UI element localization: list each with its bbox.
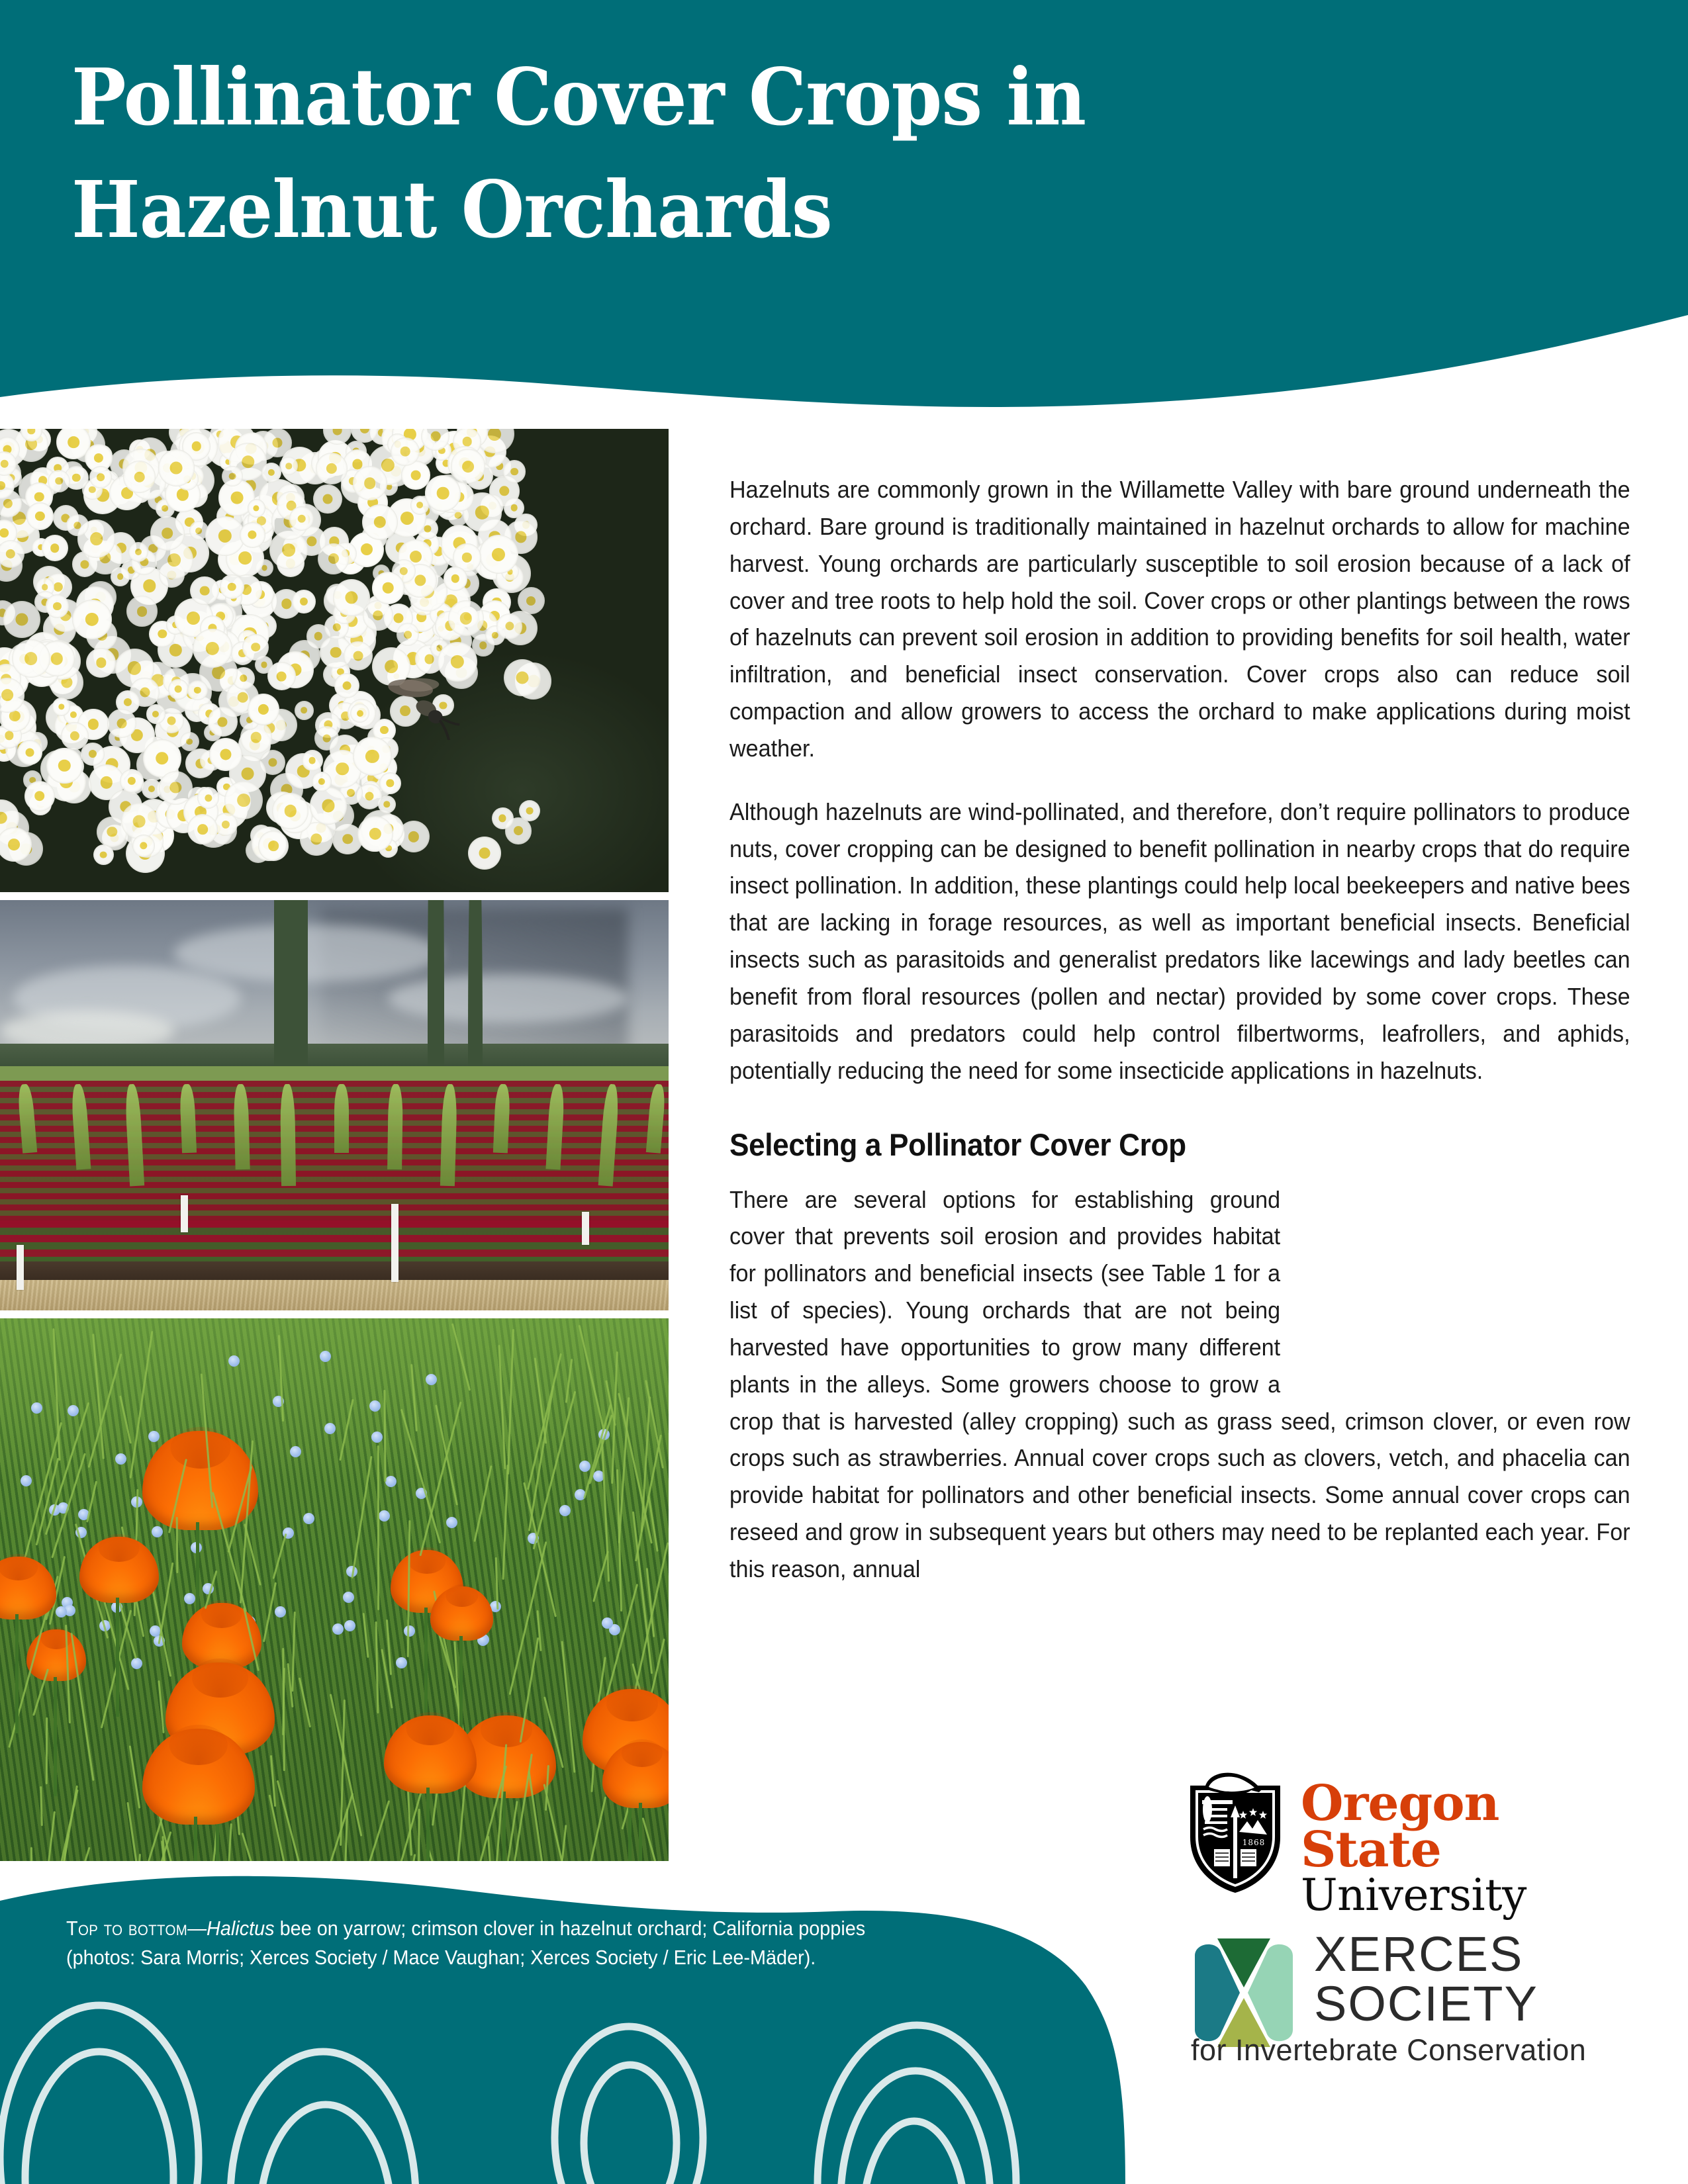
yarrow-floret <box>205 516 245 556</box>
title-line-1: Pollinator Cover Crops in <box>71 51 1086 143</box>
yarrow-floret <box>72 600 112 639</box>
poster-page: Pollinator Cover Crops in Hazelnut Orcha… <box>0 0 1688 2184</box>
yarrow-floret <box>168 679 189 700</box>
yarrow-floret <box>46 594 70 618</box>
page-title: Pollinator Cover Crops in Hazelnut Orcha… <box>71 58 1364 249</box>
header-banner: Pollinator Cover Crops in Hazelnut Orcha… <box>0 0 1688 424</box>
yarrow-floret <box>107 709 136 738</box>
yarrow-floret <box>295 701 314 720</box>
blue-flax-flower <box>379 1510 390 1522</box>
yarrow-floret <box>93 844 115 866</box>
yarrow-floret <box>132 835 155 857</box>
blue-flax-flower <box>131 1658 142 1669</box>
yarrow-floret <box>444 567 468 591</box>
yarrow-floret <box>180 732 199 751</box>
grass-blade <box>377 1445 379 1610</box>
california-poppy-flower <box>384 1715 477 1794</box>
blue-flax-flower <box>320 1351 331 1362</box>
yarrow-floret <box>313 484 342 514</box>
yarrow-floret <box>302 750 323 771</box>
grass-blade <box>400 1408 441 1543</box>
grass-blade <box>86 1481 97 1523</box>
grass-blade <box>299 1677 311 1727</box>
grass-blade <box>291 1612 296 1692</box>
grass-blade <box>383 1389 386 1481</box>
blue-flax-flower <box>385 1476 397 1487</box>
blue-flax-flower <box>602 1617 613 1629</box>
hazelnut-tree-row <box>334 1084 349 1153</box>
hazelnut-tree-row <box>124 1083 144 1186</box>
caption-lead: Top to bottom <box>66 1917 187 1940</box>
blue-flax-flower <box>396 1657 407 1668</box>
grass-blade <box>362 1613 369 1658</box>
yarrow-floret <box>353 737 392 776</box>
yarrow-floret <box>261 463 281 482</box>
grass-blade <box>158 1563 173 1645</box>
blue-flax-flower <box>21 1475 32 1486</box>
blue-flax-flower <box>275 1606 286 1617</box>
yarrow-floret <box>316 453 348 484</box>
yarrow-floret <box>448 600 484 636</box>
paragraph-1: Hazelnuts are commonly grown in the Will… <box>729 471 1630 767</box>
yarrow-floret <box>224 781 263 819</box>
grass-blade <box>40 1786 43 1826</box>
photo-crimson-clover-in-hazelnut-orchard <box>0 900 669 1310</box>
yarrow-floret <box>391 437 419 466</box>
grass-blade <box>119 1395 132 1443</box>
yarrow-floret <box>123 461 156 493</box>
grass-blade <box>381 1649 393 1708</box>
yarrow-floret <box>193 629 232 668</box>
osu-wordmark-line-2: University <box>1301 1874 1609 1917</box>
yarrow-floret <box>263 429 292 457</box>
grass-blade <box>583 1404 612 1499</box>
grass-blade <box>561 1641 575 1772</box>
hazelnut-tree-row <box>493 1083 510 1153</box>
yarrow-floret <box>24 781 55 811</box>
blue-flax-flower <box>446 1517 457 1528</box>
blue-flax-flower <box>371 1432 383 1443</box>
yarrow-floret <box>248 499 265 517</box>
yarrow-floret <box>48 470 70 492</box>
blue-flax-flower <box>303 1513 314 1524</box>
yarrow-floret <box>479 535 518 574</box>
photo-column <box>0 429 669 1885</box>
yarrow-floret <box>363 600 393 630</box>
xerces-society-logo: XERCES SOCIETY for Invertebrate Conserva… <box>1188 1929 1618 2095</box>
blue-flax-flower <box>115 1453 126 1465</box>
hazelnut-tree-row <box>233 1083 250 1169</box>
blue-flax-flower <box>290 1446 301 1457</box>
yarrow-floret <box>187 680 207 700</box>
hazelnut-tree-row <box>645 1083 665 1154</box>
yarrow-floret <box>344 641 373 670</box>
blue-flax-flower <box>404 1625 415 1637</box>
hazelnut-tree-row <box>598 1083 620 1186</box>
yarrow-floret <box>190 576 218 605</box>
yarrow-floret <box>26 502 54 530</box>
yarrow-floret <box>312 772 332 792</box>
yarrow-floret <box>318 543 349 574</box>
yarrow-floret <box>222 466 243 487</box>
yarrow-floret <box>503 460 526 483</box>
caption-italic-genus: Halictus <box>207 1917 275 1940</box>
blue-flax-flower <box>324 1423 336 1434</box>
blue-flax-flower <box>559 1505 571 1516</box>
grass-blade <box>277 1335 283 1422</box>
yarrow-floret <box>121 803 158 839</box>
grass-blade <box>273 1533 287 1579</box>
yarrow-floret <box>496 614 522 639</box>
hazelnut-tree-row <box>280 1084 296 1186</box>
bee-icon <box>371 667 470 740</box>
yarrow-floret <box>258 831 289 861</box>
section-heading-selecting-a-pollinator-cover-crop: Selecting a Pollinator Cover Crop <box>729 1126 1575 1163</box>
grass-blade <box>92 1334 105 1459</box>
grass-blade <box>410 1364 418 1432</box>
yarrow-floret <box>3 601 40 638</box>
hazelnut-tree-row <box>387 1084 403 1169</box>
photo-credit-caption: Top to bottom—Halictus bee on yarrow; cr… <box>66 1914 922 1972</box>
osu-wordmark-line-1: Oregon State <box>1301 1780 1609 1874</box>
blue-flax-flower <box>369 1400 381 1412</box>
caption-dash: — <box>187 1917 207 1940</box>
grass-blade <box>502 1465 508 1580</box>
yarrow-floret <box>126 596 158 627</box>
grass-blade <box>648 1495 659 1551</box>
blue-flax-flower <box>344 1620 355 1631</box>
hazelnut-tree-row <box>71 1083 91 1169</box>
blue-flax-flower <box>56 1606 67 1617</box>
california-poppy-flower <box>0 1557 56 1619</box>
hazelnut-tree-row <box>179 1083 197 1153</box>
yarrow-floret <box>504 659 541 696</box>
paragraph-3: There are several options for establishi… <box>729 1181 1630 1588</box>
yarrow-floret <box>492 807 514 829</box>
paragraph-2: Although hazelnuts are wind-pollinated, … <box>729 794 1630 1089</box>
yarrow-floret <box>209 738 242 771</box>
xerces-wordmark-line-1: XERCES <box>1314 1929 1586 1979</box>
grass-blade <box>507 1329 514 1475</box>
blue-flax-flower <box>579 1461 590 1472</box>
grass-blade <box>451 1324 471 1391</box>
title-line-2: Hazelnut Orchards <box>71 171 1364 249</box>
california-poppy-flower <box>430 1586 493 1641</box>
xerces-tagline: for Invertebrate Conservation <box>1191 2033 1586 2068</box>
yarrow-floret <box>425 475 461 512</box>
grass-blade <box>375 1621 379 1713</box>
yarrow-floret <box>150 516 185 551</box>
yarrow-floret <box>272 793 308 829</box>
yarrow-floret <box>17 740 42 765</box>
grass-blade <box>386 1619 392 1675</box>
grass-blade <box>508 1541 547 1695</box>
grass-blade <box>523 1482 557 1617</box>
grass-blade <box>175 1517 178 1573</box>
yarrow-floret <box>146 704 166 724</box>
oregon-state-university-logo: 1868 Oregon State University <box>1185 1768 1609 1901</box>
yarrow-floret <box>159 771 193 805</box>
yarrow-floret <box>46 748 82 784</box>
yarrow-floret <box>220 574 244 599</box>
grass-blade <box>579 1325 605 1430</box>
yarrow-floret <box>310 787 347 824</box>
grass-blade <box>46 1717 48 1784</box>
grass-blade <box>158 1680 165 1733</box>
yarrow-floret <box>12 639 50 678</box>
california-poppy-flower <box>602 1742 669 1808</box>
yarrow-floret <box>0 540 24 568</box>
blue-flax-flower <box>332 1623 344 1635</box>
yarrow-floret <box>0 827 32 862</box>
xerces-wordmark-line-2: SOCIETY <box>1314 1979 1586 2028</box>
california-poppy-flower <box>142 1431 258 1530</box>
blue-flax-flower <box>343 1592 354 1603</box>
grass-blade <box>282 1668 285 1735</box>
yarrow-floret <box>52 698 71 716</box>
hazelnut-tree-row <box>440 1083 457 1185</box>
yarrow-floret <box>240 522 265 548</box>
yarrow-floret <box>379 772 401 794</box>
grass-blade <box>495 1557 499 1610</box>
photo-california-poppies <box>0 1318 669 1861</box>
body-text-column: Hazelnuts are commonly grown in the Will… <box>729 471 1630 1614</box>
blue-flax-flower <box>31 1402 42 1414</box>
grass-blade <box>340 1399 354 1461</box>
yarrow-floret <box>158 449 195 486</box>
grass-blade <box>351 1456 372 1578</box>
yarrow-floret <box>292 590 316 614</box>
yarrow-floret <box>468 837 501 870</box>
yarrow-floret <box>61 722 89 750</box>
grass-blade <box>565 1359 573 1403</box>
osu-beaver-shield-icon: 1868 <box>1185 1768 1286 1894</box>
yarrow-floret <box>42 535 68 561</box>
grass-blade <box>473 1465 492 1542</box>
svg-text:1868: 1868 <box>1243 1838 1266 1847</box>
yarrow-floret <box>128 542 148 562</box>
blue-flax-flower <box>68 1405 79 1416</box>
hazelnut-tree-row <box>546 1083 565 1169</box>
yarrow-floret <box>357 816 393 852</box>
grass-blade <box>129 1745 141 1809</box>
yarrow-floret <box>86 648 116 678</box>
blue-flax-flower <box>426 1374 437 1385</box>
yarrow-floret <box>66 514 88 536</box>
yarrow-floret <box>518 587 545 614</box>
yarrow-floret <box>187 814 218 844</box>
yarrow-floret <box>248 694 279 725</box>
yarrow-floret <box>242 634 269 660</box>
yarrow-floret <box>372 572 404 604</box>
yarrow-floret <box>451 449 485 483</box>
grass-blade <box>87 1353 122 1468</box>
hazelnut-tree-row <box>17 1083 37 1154</box>
photo-halictus-bee-on-yarrow <box>0 429 669 892</box>
yarrow-floret <box>362 504 398 540</box>
california-poppy-flower <box>142 1729 255 1825</box>
grass-blade <box>635 1435 663 1561</box>
yarrow-floret <box>353 466 387 500</box>
california-poppy-flower <box>79 1537 159 1603</box>
grass-blade <box>498 1345 506 1469</box>
yarrow-floret <box>208 707 237 736</box>
blue-flax-flower <box>228 1355 240 1367</box>
